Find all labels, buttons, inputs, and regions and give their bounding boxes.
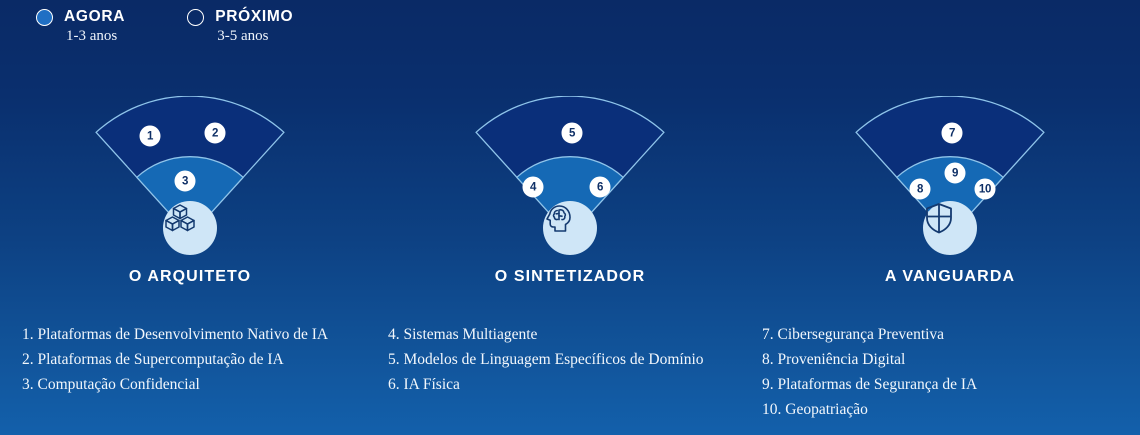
shield-icon	[923, 201, 977, 255]
legend-item-agora-row: AGORA	[36, 8, 125, 26]
list-column-arquiteto: 1. Plataformas de Desenvolvimento Nativo…	[0, 322, 372, 432]
list-item: 9. Plataformas de Segurança de IA	[762, 372, 1140, 397]
list-column-vanguarda: 7. Cibersegurança Preventiva 8. Proveniê…	[742, 322, 1140, 432]
list-item: 8. Proveniência Digital	[762, 347, 1140, 372]
fan-group-sintetizador[interactable]: 5 4 6 O SINTETIZADOR	[380, 96, 760, 301]
fan-chart-sintetizador: 5 4 6	[420, 96, 720, 256]
legend: AGORA 1-3 anos PRÓXIMO 3-5 anos	[36, 8, 293, 45]
category-title-arquiteto: O ARQUITETO	[129, 268, 251, 286]
category-title-vanguarda: A VANGUARDA	[885, 268, 1015, 286]
cubes-icon	[163, 201, 217, 255]
badge-6[interactable]: 6	[590, 177, 611, 198]
fan-diagram-row: 1 2 3 O	[0, 96, 1140, 301]
legend-item-proximo-row: PRÓXIMO	[187, 8, 293, 26]
fan-group-vanguarda[interactable]: 7 9 8 10 A VANGUARDA	[760, 96, 1140, 301]
legend-item-proximo-sublabel: 3-5 anos	[217, 28, 268, 45]
badge-3[interactable]: 3	[175, 171, 196, 192]
badge-2[interactable]: 2	[205, 123, 226, 144]
legend-item-proximo[interactable]: PRÓXIMO 3-5 anos	[187, 8, 293, 45]
fan-chart-arquiteto: 1 2 3	[40, 96, 340, 256]
brain-head-icon	[543, 201, 597, 255]
badge-4[interactable]: 4	[523, 177, 544, 198]
badge-10[interactable]: 10	[975, 179, 996, 200]
list-item: 5. Modelos de Linguagem Específicos de D…	[388, 347, 742, 372]
fan-chart-vanguarda: 7 9 8 10	[800, 96, 1100, 256]
list-item: 7. Cibersegurança Preventiva	[762, 322, 1140, 347]
legend-item-agora-label: AGORA	[64, 8, 125, 26]
list-item: 4. Sistemas Multiagente	[388, 322, 742, 347]
list-column-sintetizador: 4. Sistemas Multiagente 5. Modelos de Li…	[372, 322, 742, 432]
legend-item-agora-sublabel: 1-3 anos	[66, 28, 117, 45]
list-item: 6. IA Física	[388, 372, 742, 397]
list-item: 3. Computação Confidencial	[22, 372, 372, 397]
legend-item-agora[interactable]: AGORA 1-3 anos	[36, 8, 125, 45]
category-title-sintetizador: O SINTETIZADOR	[495, 268, 646, 286]
list-item: 1. Plataformas de Desenvolvimento Nativo…	[22, 322, 372, 347]
legend-lists: 1. Plataformas de Desenvolvimento Nativo…	[0, 322, 1140, 432]
badge-5[interactable]: 5	[562, 123, 583, 144]
legend-item-proximo-label: PRÓXIMO	[215, 8, 293, 26]
list-item: 2. Plataformas de Supercomputação de IA	[22, 347, 372, 372]
badge-7[interactable]: 7	[942, 123, 963, 144]
radio-empty-icon[interactable]	[187, 9, 204, 26]
fan-group-arquiteto[interactable]: 1 2 3 O	[0, 96, 380, 301]
radio-filled-icon[interactable]	[36, 9, 53, 26]
badge-9[interactable]: 9	[945, 163, 966, 184]
badge-8[interactable]: 8	[910, 179, 931, 200]
list-item: 10. Geopatriação	[762, 397, 1140, 422]
badge-1[interactable]: 1	[140, 126, 161, 147]
